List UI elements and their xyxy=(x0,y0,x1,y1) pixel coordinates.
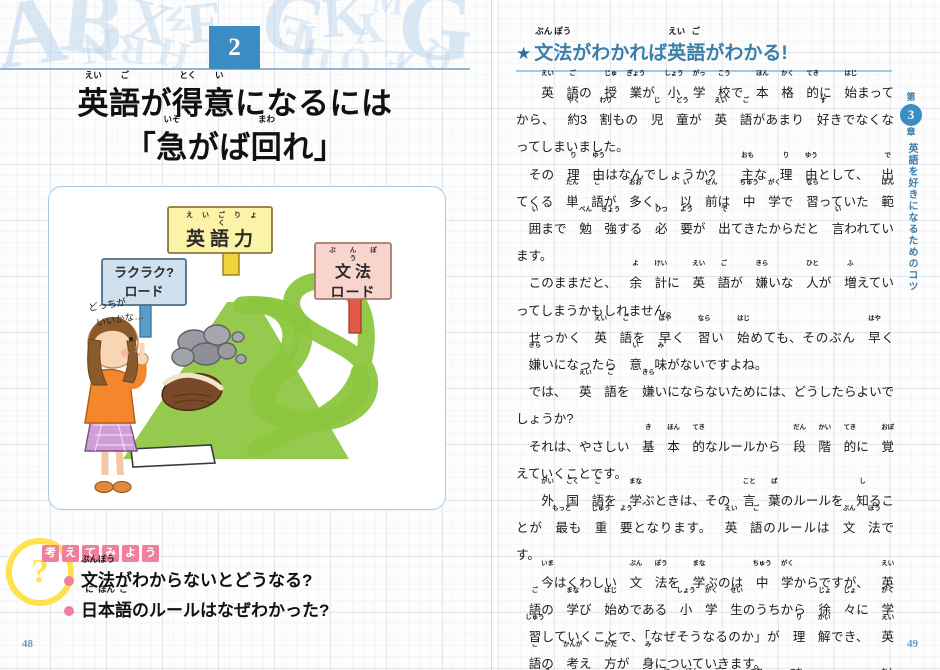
sign-text-easy-1: ラクラク? xyxy=(102,263,186,283)
plain-text: いな xyxy=(768,276,793,290)
ruby-text: えい xyxy=(869,561,894,567)
ruby-group: かい階 xyxy=(806,434,831,461)
ruby-text: い xyxy=(822,207,841,213)
ruby-text: ば xyxy=(759,479,778,485)
plain-text: で xyxy=(781,195,794,209)
ruby-group: ひつ必 xyxy=(642,216,667,243)
plain-text: が xyxy=(693,222,706,236)
decor-letter: O xyxy=(339,41,372,69)
question-list: ぶん文ぽう法がわからないとどうなる?に日ほん本ご語のルールはなぜわかった? xyxy=(64,566,464,626)
sign-text-grammar-1: 文法 xyxy=(315,263,391,283)
body-paragraph: がい外こく国ご語をまな学ぶときは、そのこと言ば葉のルールをし知ることがもっと最も… xyxy=(516,488,894,570)
star-icon: ★ xyxy=(516,44,531,63)
ruby-text: よう xyxy=(668,207,693,213)
plain-text: がば xyxy=(188,130,251,165)
ruby-group: えい英 xyxy=(680,270,705,297)
ruby-text: いま xyxy=(529,561,554,567)
ruby-text: かい xyxy=(806,425,831,431)
plain-text: え xyxy=(579,657,592,670)
ruby-text: まな xyxy=(680,561,705,567)
ruby-group: じ児 xyxy=(638,107,663,134)
decor-letter: N xyxy=(79,22,118,69)
ruby-text: かく xyxy=(769,71,794,77)
ruby-text: ぽう xyxy=(642,561,667,567)
plain-text: が xyxy=(819,276,832,290)
ruby-group: まな学 xyxy=(554,597,579,624)
ruby-group: かく格 xyxy=(769,80,794,107)
ruby-text: たん xyxy=(553,180,578,186)
ruby-text: で xyxy=(872,153,891,159)
ruby-group: えい英 xyxy=(712,515,737,542)
ruby-text: じょ xyxy=(806,588,831,594)
ruby-text: ひと xyxy=(794,261,819,267)
ruby-text: がっ xyxy=(680,71,705,77)
plain-text: く xyxy=(881,331,894,345)
plain-text: として、 xyxy=(818,168,869,182)
plain-text: その xyxy=(529,168,555,182)
plain-text: このままだと、 xyxy=(529,276,617,290)
ruby-group: きら嫌 xyxy=(743,270,768,297)
ruby-text: まな xyxy=(617,479,642,485)
ruby-text: ご xyxy=(519,642,538,648)
ruby-group: まわ回 xyxy=(251,126,283,170)
ruby-group: せい生 xyxy=(718,597,743,624)
ruby-group: きら嫌 xyxy=(516,352,541,379)
ruby-text: り xyxy=(558,153,577,159)
ruby-text: こと xyxy=(730,479,755,485)
ruby-group: なら習 xyxy=(793,189,818,216)
question-item[interactable]: に日ほん本ご語のルールはなぜわかった? xyxy=(64,596,464,626)
ruby-text: きら xyxy=(629,370,654,376)
ruby-group: い意 xyxy=(204,82,236,126)
ruby-group: ぶん文 xyxy=(830,515,855,542)
ruby-text: はじ xyxy=(724,316,749,322)
ruby-group: えい英 xyxy=(582,325,607,352)
ruby-group: よ余 xyxy=(617,270,642,297)
plain-text: のルールはなぜわかった? xyxy=(132,601,329,620)
ruby-group: い言 xyxy=(819,216,844,243)
plain-text: 「 xyxy=(125,130,157,165)
body-paragraph: そのり理ゆう由はなんでしょうか? おも主なり理ゆう由として、で出てくるたん単ご語… xyxy=(516,162,894,271)
ruby-group: よう要 xyxy=(668,216,693,243)
plain-text: も xyxy=(568,521,582,535)
ruby-text: えい xyxy=(85,71,102,80)
ruby-text: ご xyxy=(120,71,129,80)
ruby-text: かた xyxy=(591,642,616,648)
ruby-text: かい xyxy=(805,615,830,621)
sign-ruby-grammar: ぶんぽう xyxy=(315,247,391,263)
ruby-text: かんが xyxy=(550,642,582,648)
ruby-group: かた方 xyxy=(592,651,617,670)
think-badge-char: え xyxy=(62,545,79,562)
ruby-text: ゆう xyxy=(792,153,817,159)
ruby-group: どう童 xyxy=(663,107,688,134)
ruby-text: ご xyxy=(582,479,601,485)
ruby-text: ぽう xyxy=(855,506,880,512)
ruby-text: ぶん xyxy=(535,27,552,36)
ruby-group: もっと最 xyxy=(543,515,568,542)
chapter-sho-label: 章 xyxy=(906,127,915,138)
ruby-group: がく学 xyxy=(756,189,781,216)
plank xyxy=(131,445,215,467)
plain-text: に xyxy=(856,440,869,454)
ruby-group: はじ始 xyxy=(832,80,857,107)
ruby-group: えい英 xyxy=(869,624,894,651)
ruby-group: なら習 xyxy=(685,325,710,352)
ruby-text: ぽう xyxy=(554,27,571,36)
book-spread: ABNRXWHFCEIKYMDOEGQZ 2 えい英ご語がとく得い意になるには … xyxy=(0,0,940,670)
plain-text: では、 xyxy=(529,385,567,399)
ruby-text: てき xyxy=(831,425,856,431)
sign-text-easy-2: ロード xyxy=(102,283,186,301)
ruby-group: ふ増 xyxy=(831,270,856,297)
ruby-text: てき xyxy=(794,71,819,77)
ruby-text: きょう xyxy=(589,207,621,213)
ruby-text: こう xyxy=(705,71,730,77)
body-text: えい英ご語のじゅ授ぎょう業がしょう小がっ学こう校でほん本かく格てき的にはじ始まっ… xyxy=(516,80,894,670)
plain-text: び xyxy=(579,603,592,617)
plain-text: く xyxy=(671,331,685,345)
ruby-group: きょう強 xyxy=(592,216,617,243)
ruby-group: ほん本 xyxy=(98,596,115,626)
ruby-group: ぶん文 xyxy=(534,38,553,65)
ruby-text: ぶん xyxy=(617,561,642,567)
ruby-text: とく xyxy=(179,71,196,80)
plain-text: 3 xyxy=(580,113,587,127)
plain-text: めである xyxy=(617,603,667,617)
ruby-group: よう要 xyxy=(607,515,632,542)
ruby-group: けい計 xyxy=(642,270,667,297)
ruby-text: き xyxy=(633,425,652,431)
ruby-group: ぽう法 xyxy=(855,515,880,542)
ruby-text: こく xyxy=(554,479,579,485)
ruby-text: えい xyxy=(529,71,554,77)
ruby-group: ご語 xyxy=(705,270,730,297)
ruby-group: かい解 xyxy=(805,624,830,651)
ruby-text: はじ xyxy=(592,588,617,594)
question-text: に日ほん本ご語のルールはなぜわかった? xyxy=(81,596,329,626)
ruby-group: えい英 xyxy=(566,379,591,406)
body-paragraph: いま今はくわしいぶん文ぽう法をまな学ぶのはちゅう中がく学からですが、えい英ご語の… xyxy=(516,570,894,670)
ruby-text: えい xyxy=(582,316,607,322)
ruby-text: わり xyxy=(587,98,612,104)
body-paragraph: えい英ご語のじゅ授ぎょう業がしょう小がっ学こう校でほん本かく格てき的にはじ始まっ… xyxy=(516,80,894,162)
chapter-number-circle: 3 xyxy=(900,104,922,126)
ruby-group: てき的 xyxy=(831,434,856,461)
ruby-text: ぎょう xyxy=(614,71,645,77)
ruby-text: おぼ xyxy=(869,425,894,431)
question-text: ぶん文ぽう法がわからないとどうなる? xyxy=(81,566,312,596)
ruby-text: がく xyxy=(768,561,793,567)
ruby-text: い xyxy=(670,180,689,186)
plain-text: が xyxy=(689,113,702,127)
ruby-group: き基 xyxy=(629,434,654,461)
sign-label-easy-road: ラクラク? ロード xyxy=(102,259,186,305)
plain-text: に xyxy=(667,276,680,290)
ruby-group: だん段 xyxy=(781,434,806,461)
ruby-text: ひつ xyxy=(642,207,667,213)
decor-letter: D xyxy=(296,38,335,69)
ruby-text: えい xyxy=(680,261,705,267)
ruby-text: ほん xyxy=(98,585,115,594)
ruby-text: よう xyxy=(607,506,632,512)
ruby-group: はん範 xyxy=(869,189,894,216)
ruby-text: しょう xyxy=(652,71,684,77)
page-number-right: 49 xyxy=(907,638,918,650)
ruby-group: ご語 xyxy=(516,651,541,670)
ruby-text: よ xyxy=(620,261,639,267)
ruby-text: ほん xyxy=(743,71,768,77)
ruby-text: に xyxy=(85,585,94,594)
plain-text: がわからないとどうなる? xyxy=(115,571,312,590)
ruby-group: ご語 xyxy=(592,379,617,406)
think-badge-char: よ xyxy=(122,545,139,562)
ruby-text: で xyxy=(709,207,728,213)
ruby-group: に日 xyxy=(81,596,98,626)
page-title-line-1: えい英ご語がとく得い意になるには xyxy=(0,82,470,126)
plain-text: なルールから xyxy=(705,440,781,454)
center-gutter xyxy=(491,0,492,670)
ruby-group: えい英 xyxy=(78,82,110,126)
ruby-group: えい英 xyxy=(667,38,686,65)
ruby-text: し xyxy=(847,479,866,485)
ruby-text: えい xyxy=(869,615,894,621)
ruby-group: で出 xyxy=(706,216,731,243)
ruby-text: ぶん xyxy=(830,506,855,512)
ruby-text: がく xyxy=(869,588,894,594)
ruby-text: じゅう xyxy=(579,506,611,512)
plain-text: まで xyxy=(541,222,566,236)
plain-text: が xyxy=(617,657,630,670)
ruby-text: がく xyxy=(692,588,717,594)
ruby-text: しょう xyxy=(664,588,696,594)
ruby-text: ちゅう xyxy=(740,561,772,567)
ruby-text: り xyxy=(783,615,802,621)
think-badge-char: 考 xyxy=(42,545,59,562)
ruby-text: ご xyxy=(730,98,749,104)
sign-label-english-power: えいごりょく 英語力 xyxy=(168,207,272,253)
ruby-group: ご語 xyxy=(115,596,132,626)
chapter-title-vertical: 英語を好きになるためのコツ xyxy=(904,143,918,293)
ruby-text: い xyxy=(620,343,639,349)
ruby-text: み xyxy=(632,642,651,648)
ruby-text: けい xyxy=(642,261,667,267)
plain-text: てきたからだと xyxy=(731,222,819,236)
ruby-group: きら嫌 xyxy=(629,379,654,406)
ruby-text: ちゅう xyxy=(727,180,759,186)
ruby-text: い xyxy=(215,71,224,80)
ruby-group: えい英 xyxy=(529,80,554,107)
ruby-group: い囲 xyxy=(516,216,541,243)
ruby-text: きら xyxy=(516,343,541,349)
ruby-group: ご語 xyxy=(737,515,762,542)
page-title: えい英ご語がとく得い意になるには 「いそ急がばまわ回れ」 xyxy=(0,82,470,170)
ruby-text: ふ xyxy=(835,261,854,267)
ruby-text: えい xyxy=(712,506,737,512)
ruby-text: ほん xyxy=(655,425,680,431)
ruby-text: ぜん xyxy=(692,180,717,186)
ruby-text: ご xyxy=(610,316,629,322)
ruby-group: がく学 xyxy=(692,597,717,624)
ruby-text: じ xyxy=(641,98,660,104)
ruby-group: ちゅう中 xyxy=(730,189,755,216)
ruby-text: どう xyxy=(663,98,688,104)
ruby-text: まな xyxy=(554,588,579,594)
plain-text: がないですよね。 xyxy=(667,358,767,372)
plain-text: がわかれば xyxy=(572,43,667,64)
plain-text: が xyxy=(730,276,743,290)
ruby-group: やく約 xyxy=(555,107,580,134)
sign-ruby-english-power: えいごりょく xyxy=(168,212,272,228)
ruby-group: がく学 xyxy=(768,570,793,597)
ruby-group: ぶん文 xyxy=(617,570,642,597)
plain-text: を xyxy=(617,385,630,399)
sign-text-grammar-2: ロード xyxy=(315,283,391,301)
ruby-text: がい xyxy=(529,479,554,485)
ruby-text: きら xyxy=(743,261,768,267)
ruby-group: いそ急 xyxy=(156,126,188,170)
bullet-dot xyxy=(64,606,74,616)
plain-text: があまり xyxy=(752,113,804,127)
decor-letter: Q xyxy=(421,38,455,69)
sign-text-english-power: 英語力 xyxy=(168,228,272,252)
plain-text: もの xyxy=(612,113,638,127)
ruby-group: はじ始 xyxy=(592,597,617,624)
ruby-group: ほん本 xyxy=(655,434,680,461)
ruby-group: おぼ覚 xyxy=(869,434,894,461)
plain-text: い xyxy=(710,331,724,345)
ruby-text: なら xyxy=(793,180,818,186)
plain-text: に xyxy=(856,603,869,617)
sign-label-grammar-road: ぶんぽう 文法 ロード xyxy=(315,243,391,299)
ruby-text: てき xyxy=(680,425,705,431)
ruby-text: ご xyxy=(740,506,759,512)
ruby-text: ご xyxy=(119,585,128,594)
ruby-group: み身 xyxy=(629,651,654,670)
ruby-text: だん xyxy=(781,425,806,431)
ruby-text: せい xyxy=(717,588,742,594)
section-number-box: 2 xyxy=(209,26,260,69)
ruby-group: じょ々 xyxy=(831,597,856,624)
page-number-left: 48 xyxy=(22,638,33,650)
ruby-text: ご xyxy=(582,180,601,186)
ruby-group: えい英 xyxy=(702,107,727,134)
ruby-group: かんが考 xyxy=(554,651,579,670)
ruby-group: わり割 xyxy=(587,107,612,134)
ruby-text: やく xyxy=(555,98,580,104)
ruby-group: ちゅう中 xyxy=(743,570,768,597)
ruby-text: ぶん xyxy=(81,555,98,564)
page-title-line-2: 「いそ急がばまわ回れ」 xyxy=(0,126,470,170)
ruby-text: しゅう xyxy=(513,615,545,621)
chapter-dai-label: 第 xyxy=(906,92,915,103)
ruby-text: り xyxy=(770,153,789,159)
ruby-text: なら xyxy=(685,316,710,322)
ruby-group: り理 xyxy=(780,624,805,651)
chapter-side-tab[interactable]: 第 3 章 英語を好きになるためのコツ xyxy=(896,92,926,293)
ruby-group: す好 xyxy=(804,107,829,134)
ruby-text: み xyxy=(645,343,664,349)
two-roads-illustration: どっちが いいかな… えいごりょく 英語力 ラクラク? ロード ぶんぽう 文法 … xyxy=(48,186,446,510)
ruby-group: べん勉 xyxy=(567,216,592,243)
ruby-text: じょ xyxy=(831,588,856,594)
section-heading: ★ぶん文ぽう法がわかればえい英ご語がわかる! xyxy=(516,38,892,65)
ruby-group: ご語 xyxy=(109,82,141,126)
ruby-group: はじ始 xyxy=(724,325,749,352)
ruby-text: おお xyxy=(616,180,641,186)
ruby-text: ご xyxy=(595,370,614,376)
plain-text: のルールは xyxy=(762,521,830,535)
ruby-text: はじ xyxy=(832,71,857,77)
plain-text: それは、やさしい xyxy=(529,440,630,454)
ruby-text: がく xyxy=(755,180,780,186)
ruby-text: す xyxy=(807,98,826,104)
ruby-text: いそ xyxy=(163,115,180,124)
ruby-text: おも xyxy=(729,153,754,159)
ruby-text: ゆう xyxy=(580,153,605,159)
ruby-text: えい xyxy=(566,370,591,376)
ruby-text: い xyxy=(519,207,538,213)
ruby-text: ご xyxy=(708,261,727,267)
ruby-text: はや xyxy=(855,316,880,322)
ruby-group: はや早 xyxy=(856,325,881,352)
plain-text: となります。 xyxy=(633,521,713,535)
bullet-dot xyxy=(64,576,74,586)
ruby-text: もっと xyxy=(540,506,572,512)
ruby-text: まわ xyxy=(258,115,275,124)
section-heading-text: ぶん文ぽう法がわかればえい英ご語がわかる! xyxy=(534,43,787,64)
ruby-group: ご語 xyxy=(727,107,752,134)
ruby-text: ご xyxy=(557,71,576,77)
plain-text: でき、 xyxy=(830,630,868,644)
ruby-group: しょう小 xyxy=(667,597,692,624)
ruby-text: えい xyxy=(702,98,727,104)
plain-text: めても、そのぶん xyxy=(750,331,856,345)
ruby-group: ぎょう業 xyxy=(617,80,642,107)
plain-text: する xyxy=(617,222,642,236)
ruby-text: はん xyxy=(869,180,894,186)
ruby-text: はや xyxy=(646,316,671,322)
ruby-text: ご xyxy=(692,27,701,36)
ruby-group: ご語 xyxy=(686,38,705,65)
ruby-group: てき的 xyxy=(680,434,705,461)
ruby-text: ぽう xyxy=(98,555,115,564)
ruby-text: ご xyxy=(519,588,538,594)
plain-text: についていきます。 xyxy=(655,657,767,670)
ruby-text: えい xyxy=(668,27,685,36)
ruby-group: ひと人 xyxy=(794,270,819,297)
plain-text: れ」 xyxy=(282,130,345,165)
think-badge-char: う xyxy=(142,545,159,562)
ruby-group: じゅう重 xyxy=(582,515,607,542)
plain-text: がわかる! xyxy=(705,43,787,64)
ruby-group: ぽう法 xyxy=(553,38,572,65)
